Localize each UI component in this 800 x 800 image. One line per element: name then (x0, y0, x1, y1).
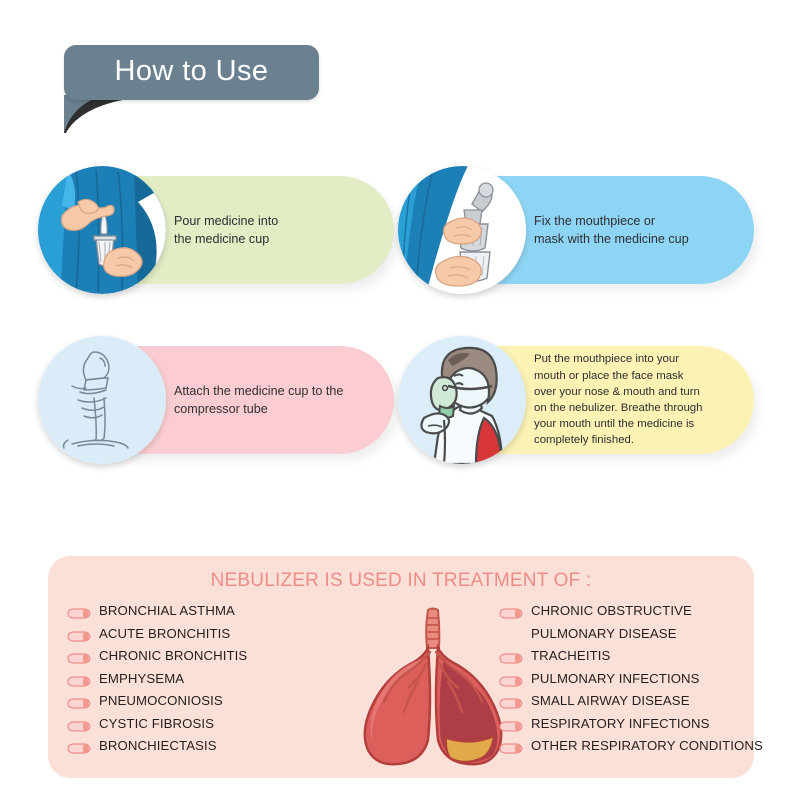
hands-attaching-mouthpiece-icon (398, 166, 526, 294)
list-item-label: BRONCHIECTASIS (99, 739, 217, 754)
step-card-pour-medicine[interactable]: Pour medicine into the medicine cup (46, 176, 394, 284)
list-item: RESPIRATORY INFECTIONS (498, 717, 760, 735)
step-card-breathe[interactable]: Put the mouthpiece into your mouth or pl… (406, 346, 754, 454)
list-item-label: SMALL AIRWAY DISEASE (531, 694, 690, 709)
list-item: PNEUMOCONIOSIS (66, 694, 336, 712)
mouthpiece-bullet-icon (66, 652, 92, 665)
list-item: SMALL AIRWAY DISEASE (498, 694, 760, 712)
mouthpiece-bullet-icon (498, 742, 524, 755)
list-item: CYSTIC FIBROSIS (66, 717, 336, 735)
list-item: PULMONARY INFECTIONS (498, 672, 760, 690)
mouthpiece-bullet-icon (66, 675, 92, 688)
mouthpiece-bullet-icon (66, 607, 92, 620)
list-item: OTHER RESPIRATORY CONDITIONS (498, 739, 760, 757)
step-text-line: Put the mouthpiece into your (534, 351, 702, 367)
list-item-label: PNEUMOCONIOSIS (99, 694, 223, 709)
step-card-text: Attach the medicine cup to the compresso… (174, 382, 355, 419)
list-item-label: EMPHYSEMA (99, 672, 184, 687)
mouthpiece-bullet-icon (498, 675, 524, 688)
banner-plate: How to Use (64, 45, 319, 100)
step-text-line: Attach the medicine cup to the (174, 382, 343, 400)
infographic-canvas: How to Use (0, 0, 800, 800)
step-text-line: Pour medicine into (174, 212, 278, 230)
list-item-label: TRACHEITIS (531, 649, 610, 664)
list-item-label: PULMONARY DISEASE (531, 627, 677, 642)
step-text-line: Fix the mouthpiece or (534, 212, 689, 230)
step-card-fix-mouthpiece[interactable]: Fix the mouthpiece or mask with the medi… (406, 176, 754, 284)
mouthpiece-bullet-icon (66, 742, 92, 755)
step-text-line: over your nose & mouth and turn (534, 384, 702, 400)
step-text-line: the medicine cup (174, 230, 278, 248)
mouthpiece-bullet-icon (498, 720, 524, 733)
hands-pouring-medicine-icon (38, 166, 166, 294)
list-item-label: OTHER RESPIRATORY CONDITIONS (531, 739, 763, 754)
person-wearing-mask-icon (398, 336, 526, 464)
list-item-label: CHRONIC OBSTRUCTIVE (531, 604, 692, 619)
step-text-line: mask with the medicine cup (534, 230, 689, 248)
list-item: BRONCHIECTASIS (66, 739, 336, 757)
list-item: CHRONIC BRONCHITIS (66, 649, 336, 667)
mouthpiece-bullet-icon (498, 607, 524, 620)
list-item-label: BRONCHIAL ASTHMA (99, 604, 235, 619)
step-text-line: your mouth until the medicine is (534, 416, 702, 432)
steps-section: Pour medicine into the medicine cup (0, 168, 800, 498)
mouthpiece-bullet-icon (66, 630, 92, 643)
list-item: ACUTE BRONCHITIS (66, 627, 336, 645)
list-item: TRACHEITIS (498, 649, 760, 667)
mouthpiece-bullet-icon (66, 697, 92, 710)
list-item-label: RESPIRATORY INFECTIONS (531, 717, 710, 732)
mouthpiece-bullet-icon (498, 652, 524, 665)
list-item: EMPHYSEMA (66, 672, 336, 690)
treatment-panel: NEBULIZER IS USED IN TREATMENT OF : BRON… (48, 556, 754, 778)
mouthpiece-bullet-icon (66, 720, 92, 733)
step-text-line: compressor tube (174, 400, 343, 418)
list-item-label: CHRONIC BRONCHITIS (99, 649, 247, 664)
hand-attaching-tube-icon (38, 336, 166, 464)
lungs-icon (348, 602, 518, 770)
header-banner: How to Use (64, 45, 319, 100)
treatment-list-right: CHRONIC OBSTRUCTIVE PULMONARY DISEASE TR… (498, 604, 760, 762)
list-item-label: ACUTE BRONCHITIS (99, 627, 230, 642)
step-card-text: Fix the mouthpiece or mask with the medi… (534, 212, 701, 249)
list-item: BRONCHIAL ASTHMA (66, 604, 336, 622)
list-item-label: PULMONARY INFECTIONS (531, 672, 700, 687)
step-text-line: mouth or place the face mask (534, 368, 702, 384)
list-item: PULMONARY DISEASE (498, 627, 760, 645)
step-card-text: Put the mouthpiece into your mouth or pl… (534, 351, 714, 448)
treatment-panel-title: NEBULIZER IS USED IN TREATMENT OF : (48, 570, 754, 592)
mouthpiece-bullet-icon (498, 697, 524, 710)
page-title: How to Use (115, 57, 269, 89)
step-text-line: completely finished. (534, 432, 702, 448)
step-card-text: Pour medicine into the medicine cup (174, 212, 290, 249)
step-card-attach-cup[interactable]: Attach the medicine cup to the compresso… (46, 346, 394, 454)
banner-fold-decoration (64, 95, 134, 135)
treatment-list-left: BRONCHIAL ASTHMA ACUTE BRONCHITIS CHRONI… (66, 604, 336, 762)
step-text-line: on the nebulizer. Breathe through (534, 400, 702, 416)
list-item-label: CYSTIC FIBROSIS (99, 717, 214, 732)
list-item: CHRONIC OBSTRUCTIVE (498, 604, 760, 622)
